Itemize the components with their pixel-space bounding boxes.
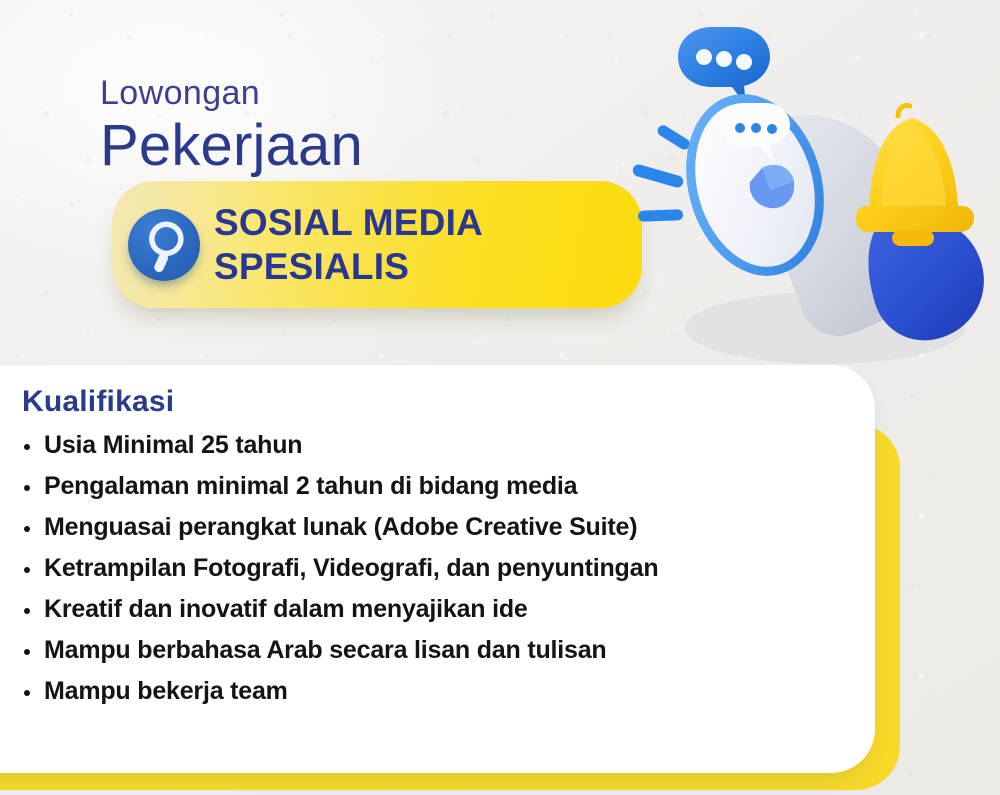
list-item: Menguasai perangkat lunak (Adobe Creativ… (22, 515, 835, 540)
list-item-label: Menguasai perangkat lunak (Adobe Creativ… (44, 513, 637, 541)
megaphone-illustration (620, 10, 1000, 380)
bullet-icon (24, 485, 30, 491)
role-title-line1: SOSIAL MEDIA (214, 201, 483, 245)
poster-heading: Lowongan Pekerjaan (100, 76, 363, 177)
list-item-label: Pengalaman minimal 2 tahun di bidang med… (44, 472, 577, 500)
list-item: Pengalaman minimal 2 tahun di bidang med… (22, 474, 835, 499)
qualification-title: Kualifikasi (22, 385, 835, 419)
role-title: SOSIAL MEDIA SPESIALIS (214, 201, 483, 288)
list-item-label: Ketrampilan Fotografi, Videografi, dan p… (44, 554, 658, 582)
list-item-label: Usia Minimal 25 tahun (44, 431, 302, 459)
list-item: Mampu berbahasa Arab secara lisan dan tu… (22, 638, 835, 663)
list-item: Mampu bekerja team (22, 679, 835, 704)
sound-lines (631, 123, 692, 222)
page-title: Pekerjaan (100, 116, 363, 177)
qualification-list: Usia Minimal 25 tahun Pengalaman minimal… (22, 433, 835, 704)
bullet-icon (24, 608, 30, 614)
list-item-label: Mampu berbahasa Arab secara lisan dan tu… (44, 636, 607, 664)
qualification-card: Kualifikasi Usia Minimal 25 tahun Pengal… (0, 365, 875, 773)
bullet-icon (24, 649, 30, 655)
bell-icon (856, 105, 974, 246)
list-item-label: Kreatif dan inovatif dalam menyajikan id… (44, 595, 528, 623)
search-icon (128, 209, 200, 281)
bullet-icon (24, 690, 30, 696)
bullet-icon (24, 444, 30, 450)
list-item: Ketrampilan Fotografi, Videografi, dan p… (22, 556, 835, 581)
blue-speech-bubble (678, 27, 770, 105)
role-title-line2: SPESIALIS (214, 245, 483, 289)
bullet-icon (24, 526, 30, 532)
bullet-icon (24, 567, 30, 573)
list-item-label: Mampu bekerja team (44, 677, 288, 705)
list-item: Kreatif dan inovatif dalam menyajikan id… (22, 597, 835, 622)
role-banner-content: SOSIAL MEDIA SPESIALIS (112, 181, 642, 308)
job-vacancy-poster: Lowongan Pekerjaan SOSIAL MEDIA SPESIALI… (0, 0, 1000, 795)
role-banner: SOSIAL MEDIA SPESIALIS (112, 181, 642, 308)
list-item: Usia Minimal 25 tahun (22, 433, 835, 458)
heading-subtitle: Lowongan (100, 76, 363, 110)
